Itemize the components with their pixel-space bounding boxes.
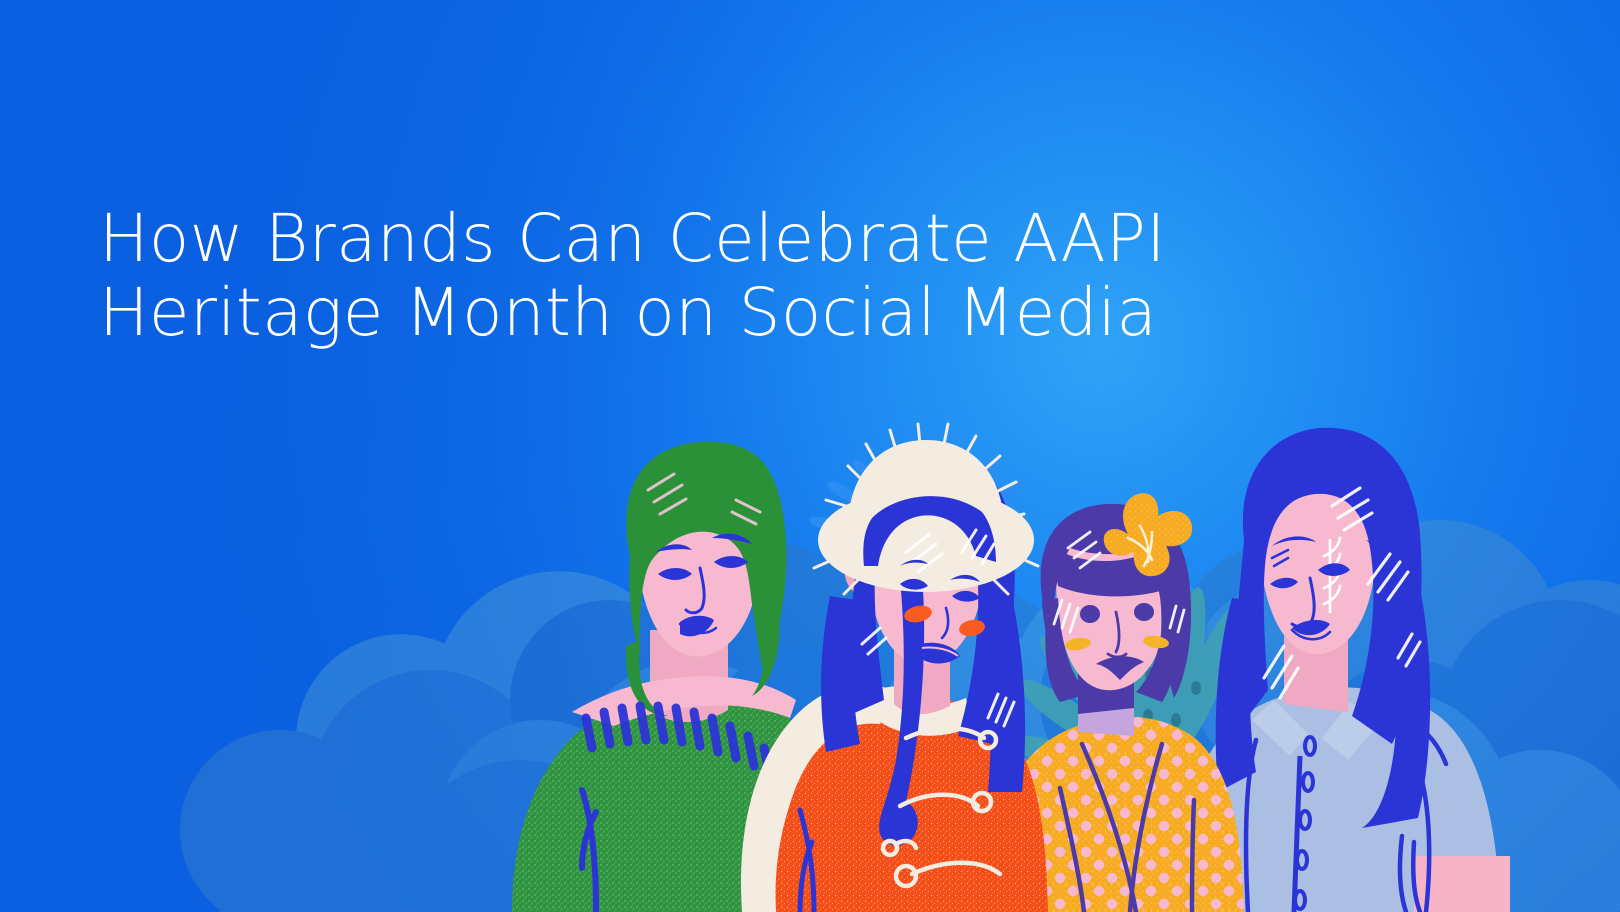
hero-banner: How Brands Can Celebrate AAPI Heritage M… — [0, 0, 1620, 912]
figure-white-hat — [741, 424, 1048, 912]
aapi-illustration — [0, 0, 1620, 912]
